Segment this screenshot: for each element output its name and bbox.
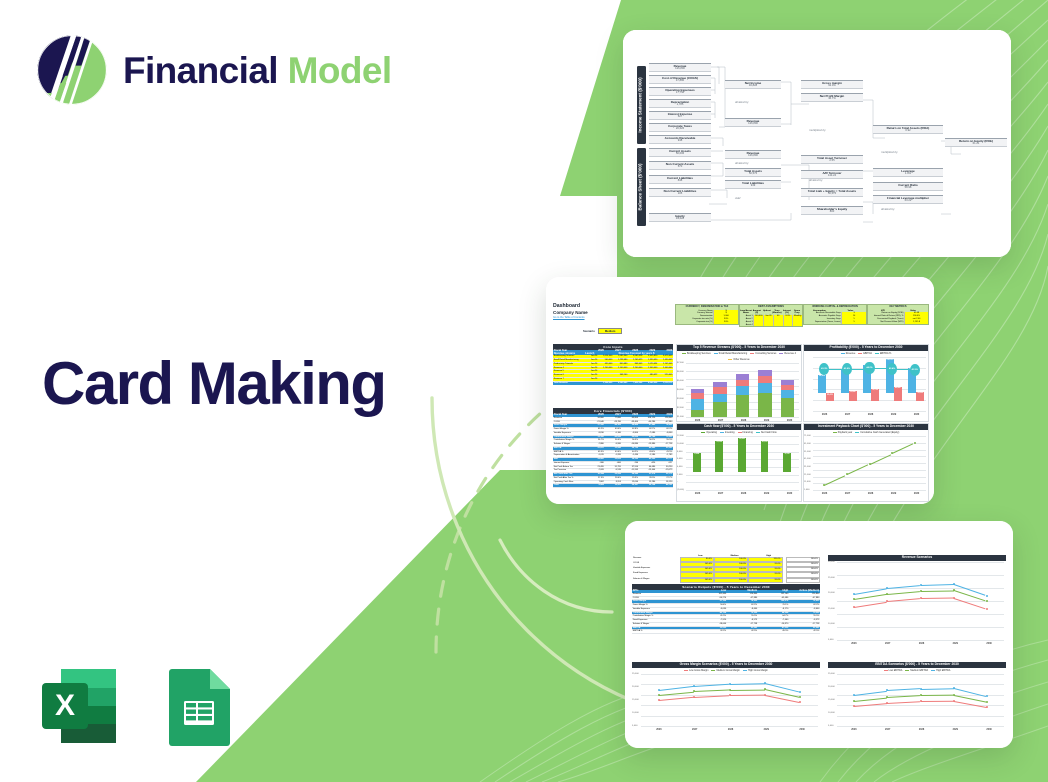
legend-swatch (779, 353, 783, 355)
table-cell[interactable] (628, 370, 643, 373)
table-cell[interactable]: 70,320 (656, 436, 673, 439)
table-cell[interactable]: Contribution Margin (553, 436, 587, 439)
chart-cash-flow[interactable]: Cash flow ($'000) - 5 Years to December … (676, 423, 802, 502)
chart-top-revenue-streams[interactable]: Top 5 Revenue Streams ($'000) - 5 Years … (676, 344, 802, 422)
table-cell[interactable]: 520,009 (658, 374, 673, 377)
table-cell[interactable]: 41.5% (656, 451, 673, 454)
legend-label: Investing (725, 431, 735, 434)
table-cell[interactable]: 98,504 (758, 612, 789, 615)
table-cell[interactable]: Contribution Margin % (553, 439, 587, 442)
table-cell[interactable]: 2,083,360 (613, 355, 628, 358)
table-cell[interactable]: -1,785 (656, 454, 673, 457)
table-cell[interactable]: Net Profit Before Tax (553, 466, 587, 469)
dashboard-screenshot[interactable]: Dashboard Company Name Go to the Table o… (546, 277, 934, 504)
table-cell[interactable]: 1,014,000 (598, 355, 613, 358)
legend-item: EBITDA (858, 352, 872, 355)
table-cell[interactable]: 50.4% (696, 604, 727, 607)
table-cell[interactable]: Revenue 5 (553, 370, 583, 373)
table-cell[interactable]: 51,166 (696, 600, 727, 603)
table-cell[interactable]: 70.1% (758, 604, 789, 607)
table-cell[interactable]: 56,400 (622, 424, 639, 427)
table-cell[interactable]: -1,430 (622, 454, 639, 457)
x-tick-label: 2030 (986, 728, 991, 731)
table-cell[interactable]: 41.5% (696, 615, 727, 618)
table-cell[interactable]: Gross Margin (632, 600, 696, 603)
table-cell[interactable]: 50,600 (622, 436, 639, 439)
table-cell[interactable]: 126,800 (656, 417, 673, 420)
chart-investment-payback[interactable]: Investment Payback Chart ($'000) - 5 Yea… (803, 423, 929, 502)
table-cell[interactable]: -620 (639, 462, 656, 465)
x-tick-label: 2026 (851, 642, 856, 645)
table-cell[interactable]: 22,256 (605, 473, 622, 476)
table-cell[interactable]: -40,280 (639, 421, 656, 424)
x-tick-label: 2027 (845, 492, 850, 495)
table-cell[interactable]: Revenue 7 (553, 378, 583, 381)
table-cell[interactable]: 70,320 (789, 612, 820, 615)
table-cell[interactable]: -11,265 (622, 469, 639, 472)
table-cell[interactable]: -7,920 (696, 619, 727, 622)
table-cell[interactable]: Jan-26 (583, 359, 598, 362)
table-cell[interactable]: Revenue 4 (553, 367, 583, 370)
table-cell[interactable]: Variable Expenses (632, 608, 696, 611)
table-cell[interactable]: 67,840 (639, 424, 656, 427)
table-cell[interactable]: 78,920 (656, 424, 673, 427)
y-tick-label: 1,000 (804, 489, 809, 491)
table-cell[interactable]: 800,080 (613, 363, 628, 366)
table-cell[interactable]: -10,880 (622, 443, 639, 446)
dashboard-toc-link[interactable]: Go to the Table of Contents (553, 316, 673, 319)
table-row[interactable]: EBITDA %32.2%42.5%49.5%42.5% (632, 630, 820, 634)
table-cell[interactable]: Cash (553, 484, 587, 487)
table-cell[interactable]: 27.9% (587, 477, 604, 480)
dupont-node-value: 63.22 (873, 200, 943, 203)
table-cell[interactable]: EBITDA % (632, 630, 696, 633)
line-segment (887, 689, 920, 692)
table-cell[interactable]: 7,802 (587, 481, 604, 484)
table-cell[interactable]: 78,920 (727, 600, 758, 603)
table-cell[interactable]: -860 (605, 462, 622, 465)
table-cell[interactable]: Salaries & Wages (553, 443, 587, 446)
table-cell[interactable]: 1,109,003 (658, 363, 673, 366)
table-cell[interactable]: 35,175 (656, 473, 673, 476)
table-cell[interactable]: 49,100 (605, 424, 622, 427)
table-cell[interactable]: -9,539 (605, 469, 622, 472)
table-cell[interactable]: -7,080 (639, 432, 656, 435)
table-cell[interactable]: 81,036 (758, 627, 789, 630)
table-cell[interactable]: 2,400,000 (658, 367, 673, 370)
table-cell[interactable]: Fixed Expenses (632, 619, 696, 622)
table-cell[interactable]: -45,486 (758, 597, 789, 600)
table-cell[interactable]: 64.7% (758, 615, 789, 618)
table-cell[interactable]: -21,640 (587, 421, 604, 424)
table-cell[interactable]: 50,250 (656, 466, 673, 469)
table-cell[interactable]: 24,400 (587, 458, 604, 461)
table-cell[interactable]: -13,880 (639, 443, 656, 446)
table-cell[interactable]: 32,065 (696, 627, 727, 630)
table-cell[interactable]: 29.3% (622, 477, 639, 480)
table-cell[interactable]: 45,300 (639, 458, 656, 461)
table-cell[interactable]: 46,880 (639, 447, 656, 450)
table-cell[interactable]: Net Profit After Tax (553, 473, 587, 476)
table-cell[interactable]: 18,120 (656, 481, 673, 484)
chart-ebitda-scenarios[interactable]: EBITDA Scenarios ($'000) - 5 Years to De… (828, 662, 1006, 739)
table-cell[interactable]: -16,870 (758, 623, 789, 626)
table-cell[interactable]: 2,300,000 (643, 367, 658, 370)
table-cell[interactable] (598, 374, 613, 377)
table-cell[interactable]: -17,758 (656, 443, 673, 446)
bar-value-label: 10,900 (738, 438, 746, 440)
scenario-analysis-screenshot[interactable]: LowMediumHighRevenue80.0%100.0%120.0%100… (625, 521, 1013, 748)
y-tick-label: 10,000 (828, 712, 835, 714)
table-cell[interactable]: Small Retail Manufacturing (553, 359, 583, 362)
table-cell[interactable]: Gross Margin (553, 424, 587, 427)
table-row[interactable]: Cash8,40416,20026,36739,10848,102 (553, 484, 673, 488)
table-cell[interactable]: Bookkeeping Services (553, 355, 583, 358)
table-cell[interactable]: 37,550 (622, 466, 639, 469)
y-tick-label: 20,000 (828, 592, 835, 594)
table-cell[interactable]: 77,880 (605, 417, 622, 420)
assumption-cell[interactable] (753, 324, 763, 327)
table-cell[interactable] (643, 370, 658, 373)
table-cell[interactable]: COGS (553, 421, 587, 424)
table-cell[interactable]: Net Profit After Tax % (553, 477, 587, 480)
table-cell[interactable]: 55.5% (656, 439, 673, 442)
table-cell[interactable]: -3,810 (587, 432, 604, 435)
table-cell[interactable]: 2,200,000 (628, 367, 643, 370)
table-cell[interactable]: 62.7% (639, 428, 656, 431)
table-cell[interactable]: Revenue (553, 417, 587, 420)
core-inputs-table[interactable]: Core InputsFiscal Year202620272028202920… (553, 344, 673, 406)
legend-swatch (884, 670, 888, 672)
table-cell[interactable]: -18,646 (696, 623, 727, 626)
assumption-cell[interactable]: Depreciation (Years, Linear) (804, 321, 841, 324)
table-cell[interactable]: 95.0% (748, 578, 782, 583)
assumption-cell[interactable]: Asset 4 (740, 324, 753, 327)
table-cell[interactable]: 16,200 (605, 484, 622, 487)
table-cell[interactable]: Jan-26 (583, 378, 598, 381)
bar-segment (691, 393, 705, 399)
table-cell[interactable]: 3,459,820 (643, 355, 658, 358)
table-cell[interactable]: 43.4% (639, 451, 656, 454)
table-cell[interactable]: -980 (587, 462, 604, 465)
table-cell[interactable]: -7,880 (587, 443, 604, 446)
table-cell[interactable]: 52,562 (727, 627, 758, 630)
table-row[interactable]: Salaries & Wages105.0%100.0%95.0%100.0% (632, 578, 820, 583)
table-cell[interactable]: Productivity Tutorials (553, 363, 583, 366)
table-cell[interactable]: 56.3% (622, 439, 639, 442)
table-cell[interactable]: 126,800 (789, 593, 820, 596)
table-cell[interactable]: Jan-26 (583, 367, 598, 370)
table-cell[interactable]: Interest Expense (553, 462, 587, 465)
table-cell[interactable]: 42.5% (727, 630, 758, 633)
table-cell[interactable] (598, 370, 613, 373)
table-cell[interactable]: 52,562 (656, 447, 673, 450)
table-cell[interactable]: 101,440 (696, 593, 727, 596)
legend-item: Small Retail Manufacturing (714, 352, 748, 355)
table-cell[interactable]: 16,394 (587, 473, 604, 476)
table-cell[interactable]: 62.8% (622, 428, 639, 431)
legend-swatch (701, 432, 705, 434)
table-cell[interactable]: 32,655 (605, 458, 622, 461)
table-cell[interactable]: 1,269,029 (628, 359, 643, 362)
table-cell[interactable]: Revenue 6 (553, 374, 583, 377)
table-cell[interactable]: Gross Margin % (632, 604, 696, 607)
table-cell[interactable]: 44.2% (622, 451, 639, 454)
table-cell[interactable]: Gross Margin % (553, 428, 587, 431)
y-tick-label: 71,000 (804, 435, 811, 437)
table-cell[interactable]: Operating Cash Flow (553, 481, 587, 484)
table-cell[interactable]: 42,136 (696, 612, 727, 615)
assumption-cell[interactable]: Net Present Value (NPV) (868, 321, 904, 324)
table-cell[interactable]: -17,758 (789, 623, 820, 626)
table-cell[interactable]: 1,200,000 (598, 367, 613, 370)
table-cell[interactable]: -1,580 (639, 454, 656, 457)
table-cell[interactable]: 55.5% (789, 615, 820, 618)
table-cell[interactable]: Tax Provision (553, 469, 587, 472)
table-cell[interactable]: 39,720 (622, 447, 639, 450)
dupont-node-value: 47,880 (649, 80, 711, 83)
table-cell[interactable]: -527 (656, 462, 673, 465)
table-cell[interactable]: 48,102 (656, 484, 673, 487)
table-cell[interactable]: 3,089,328 (628, 355, 643, 358)
assumption-cell[interactable]: Corporate tax (%) (676, 321, 713, 324)
legend-item: Bookkeeping Services (682, 352, 711, 355)
table-cell[interactable]: 33,940 (605, 447, 622, 450)
table-cell[interactable]: Revenue (632, 593, 696, 596)
core-financials-table[interactable]: Core Financials ($'000)Fiscal Year202620… (553, 408, 673, 500)
y-tick-label: 21,000 (804, 474, 811, 476)
assumption-block[interactable]: CURRENCY, DENOMINATION & TAXCurrency Nam… (675, 304, 739, 325)
table-cell[interactable]: 28.9% (639, 477, 656, 480)
table-cell[interactable]: -28,780 (605, 421, 622, 424)
table-cell[interactable]: 27.7% (656, 477, 673, 480)
table-cell[interactable]: 56.2% (639, 439, 656, 442)
data-point (799, 701, 801, 703)
assumption-cell[interactable] (763, 324, 773, 327)
table-cell[interactable]: 55.5% (727, 615, 758, 618)
table-cell[interactable]: 26,367 (622, 484, 639, 487)
table-cell[interactable]: 26,285 (622, 473, 639, 476)
table-cell[interactable] (628, 378, 643, 381)
chart-gross-margin-scenarios[interactable]: Gross Margin Scenarios ($'000) - 5 Years… (632, 662, 820, 739)
table-cell[interactable]: Jan-26 (583, 374, 598, 377)
table-cell[interactable]: 62.2% (656, 428, 673, 431)
bar-value-label: 33,940 (849, 391, 857, 393)
y-tick-label: $1,000 (677, 416, 684, 418)
table-cell[interactable]: 33,350 (587, 436, 604, 439)
table-cell[interactable]: 43.6% (605, 451, 622, 454)
table-cell[interactable]: 108,120 (639, 417, 656, 420)
x-tick-label: 2026 (656, 728, 661, 731)
table-cell[interactable]: Variable Expenses (553, 432, 587, 435)
table-cell[interactable]: -17,758 (727, 623, 758, 626)
table-cell[interactable]: 63.0% (605, 428, 622, 431)
table-cell[interactable]: 31,795 (605, 466, 622, 469)
table-cell[interactable]: 1,430,043 (658, 359, 673, 362)
table-cell[interactable]: 12,090 (622, 481, 639, 484)
table-cell[interactable]: -8,600 (656, 432, 673, 435)
table-cell[interactable]: -8,573 (727, 619, 758, 622)
table-cell[interactable]: -740 (622, 462, 639, 465)
dupont-node: Total Asset Turnover2.55 (801, 155, 863, 164)
table-cell[interactable]: 106,674 (758, 600, 789, 603)
table-cell[interactable]: 58,800 (587, 417, 604, 420)
table-cell[interactable]: 8,953 (605, 481, 622, 484)
table-cell[interactable]: 60,760 (639, 436, 656, 439)
table-cell[interactable]: 63.2% (587, 428, 604, 431)
table-cell[interactable] (643, 378, 658, 381)
table-cell[interactable]: -5,180 (605, 432, 622, 435)
table-cell[interactable]: Jan-26 (583, 355, 598, 358)
table-cell[interactable]: 8,404 (587, 484, 604, 487)
table-cell[interactable]: 100.0% (786, 578, 820, 583)
table-cell[interactable]: EBITDA (553, 447, 587, 450)
assumption-block[interactable]: WORKING CAPITAL & DEPRECIATIONAssumption… (803, 304, 867, 325)
table-cell[interactable]: 50,777 (656, 458, 673, 461)
table-cell[interactable] (658, 370, 673, 373)
table-cell[interactable]: 868,009 (628, 363, 643, 366)
table-cell[interactable]: -8,600 (789, 608, 820, 611)
table-cell[interactable]: -1,070 (587, 454, 604, 457)
y-tick-label: 11,000 (804, 481, 811, 483)
table-cell[interactable]: 32.2% (696, 630, 727, 633)
table-cell[interactable]: -33,400 (622, 421, 639, 424)
table-cell[interactable]: 78,920 (789, 600, 820, 603)
table-cell[interactable] (613, 378, 628, 381)
table-cell[interactable]: 43,920 (605, 436, 622, 439)
legend-label: Net Cash Flow (761, 431, 777, 434)
table-cell[interactable]: 1,238,080 (613, 359, 628, 362)
bar-segment (758, 370, 772, 376)
table-cell[interactable]: -8,600 (727, 608, 758, 611)
table-cell[interactable]: 31,276 (639, 473, 656, 476)
chart-legend: OperatingInvestingFinancingNet Cash Flow (677, 430, 801, 435)
table-cell[interactable]: 23,420 (587, 466, 604, 469)
x-tick-label: 2029 (891, 413, 896, 416)
table-cell[interactable]: 1,020,034 (643, 363, 658, 366)
assumption-cell[interactable] (783, 324, 793, 327)
table-cell[interactable]: 49.5% (758, 630, 789, 633)
table-cell[interactable]: COGS (632, 597, 696, 600)
table-cell[interactable]: -9,030 (696, 608, 727, 611)
table-cell[interactable] (613, 370, 628, 373)
table-cell[interactable]: -50,274 (696, 597, 727, 600)
table-cell[interactable]: 126,800 (727, 593, 758, 596)
table-cell[interactable]: 62.2% (789, 604, 820, 607)
table-cell[interactable]: -13,404 (639, 469, 656, 472)
scenario-value[interactable]: Medium (598, 328, 623, 334)
table-cell[interactable]: 56.4% (605, 439, 622, 442)
bar-segment (736, 380, 750, 387)
chart-revenue-scenarios[interactable]: Revenue Scenarios30,00025,00020,00015,00… (828, 555, 1006, 659)
table-cell[interactable]: -47,880 (656, 421, 673, 424)
table-cell[interactable]: 480,022 (643, 374, 658, 377)
table-cell[interactable]: Contribution Margin (632, 612, 696, 615)
dupont-node-value: 948 (649, 140, 711, 143)
legend-item: Payback year (833, 431, 852, 434)
table-cell[interactable]: -7,026 (587, 469, 604, 472)
table-cell[interactable] (628, 374, 643, 377)
table-cell[interactable]: 56.7% (587, 439, 604, 442)
table-cell[interactable] (598, 378, 613, 381)
chart-legend: Payback yearCumulative Cash Generated (E… (804, 430, 928, 435)
assumption-block[interactable]: KEY METRICSKPIValueReturn on Equity (ROE… (867, 304, 929, 325)
assumption-cell[interactable] (792, 324, 802, 327)
table-cell[interactable]: 37,160 (587, 424, 604, 427)
x-tick-label: 2029 (764, 728, 769, 731)
table-cell[interactable]: 89,800 (622, 417, 639, 420)
table-cell[interactable]: Jan-26 (583, 363, 598, 366)
table-cell[interactable]: 44,680 (639, 466, 656, 469)
bar-segment (781, 380, 795, 384)
assumption-cell[interactable]: 30% (713, 321, 738, 324)
table-cell[interactable]: 430,000 (598, 363, 613, 366)
table-cell[interactable]: Depreciation & Amortisation (553, 454, 587, 457)
table-cell[interactable]: 25,470 (587, 447, 604, 450)
table-cell[interactable]: 105.0% (680, 578, 714, 583)
table-cell[interactable]: -5,800 (622, 432, 639, 435)
table-cell[interactable]: 38,290 (622, 458, 639, 461)
table-cell[interactable]: Jan-26 (583, 370, 598, 373)
table-cell[interactable]: Salaries & Wages (632, 623, 696, 626)
table-cell[interactable]: -8,170 (758, 608, 789, 611)
assumption-block[interactable]: DEBT ASSUMPTIONSLoan/Asset NameAmount ($… (739, 304, 803, 327)
chart-xaxis: 20262027202820292030 (813, 411, 928, 416)
table-cell[interactable]: EBIT (553, 458, 587, 461)
table-cell[interactable]: EBITDA % (553, 451, 587, 454)
table-cell[interactable]: -1,285 (605, 454, 622, 457)
table-cell[interactable]: -15,075 (656, 469, 673, 472)
assumption-cell[interactable]: 1,295.8 (904, 321, 928, 324)
table-cell[interactable]: 70,320 (727, 612, 758, 615)
legend-label: EBITDA (863, 352, 872, 355)
dupont-node: Revenue126,800 (725, 118, 781, 127)
table-cell[interactable]: 28.6% (605, 477, 622, 480)
table-cell[interactable]: 42.5% (789, 630, 820, 633)
table-cell[interactable]: 62.2% (727, 604, 758, 607)
table-cell[interactable] (658, 378, 673, 381)
svg-text:Balance Sheet ($'000): Balance Sheet ($'000) (638, 163, 643, 211)
financial-ratio-tree-screenshot[interactable]: Income Statement ($'000) Balance Sheet (… (623, 30, 1011, 257)
table-cell[interactable]: -8,573 (789, 619, 820, 622)
table-cell[interactable]: 39,108 (639, 484, 656, 487)
table-cell[interactable]: 560,000 (598, 359, 613, 362)
table-cell[interactable]: EBITDA (632, 627, 696, 630)
scenario-assumptions-table[interactable]: LowMediumHighRevenue80.0%100.0%120.0%100… (632, 555, 820, 582)
table-cell[interactable]: 43.3% (587, 451, 604, 454)
table-cell[interactable]: 15,280 (639, 481, 656, 484)
table-cell[interactable]: 2,100,000 (613, 367, 628, 370)
table-cell[interactable]: -47,880 (789, 597, 820, 600)
table-cell[interactable]: -47,880 (727, 597, 758, 600)
dupont-node: Corporate Taxes20,626 (649, 123, 711, 132)
table-cell[interactable]: 368,160 (613, 374, 628, 377)
table-cell[interactable]: Contribution Margin % (632, 615, 696, 618)
assumption-cell[interactable]: 5 (841, 321, 866, 324)
table-cell[interactable]: -7,460 (758, 619, 789, 622)
table-cell[interactable]: 152,160 (758, 593, 789, 596)
y-tick-label: 10,000 (632, 712, 639, 714)
table-cell[interactable]: 52,562 (789, 627, 820, 630)
table-cell[interactable]: 1,390,030 (643, 359, 658, 362)
dupont-node: Accounts Receivable948 (649, 135, 711, 144)
scenario-outputs-table[interactable]: Scenario Outputs ($'000) - 5 Years to De… (632, 584, 820, 659)
chart-profitability[interactable]: Profitability ($'000) - 5 Years to Decem… (803, 344, 929, 422)
assumption-cell[interactable] (773, 324, 783, 327)
table-cell[interactable]: 100.0% (714, 578, 748, 583)
table-cell[interactable]: -9,980 (605, 443, 622, 446)
table-cell[interactable]: 3,679,055 (658, 355, 673, 358)
